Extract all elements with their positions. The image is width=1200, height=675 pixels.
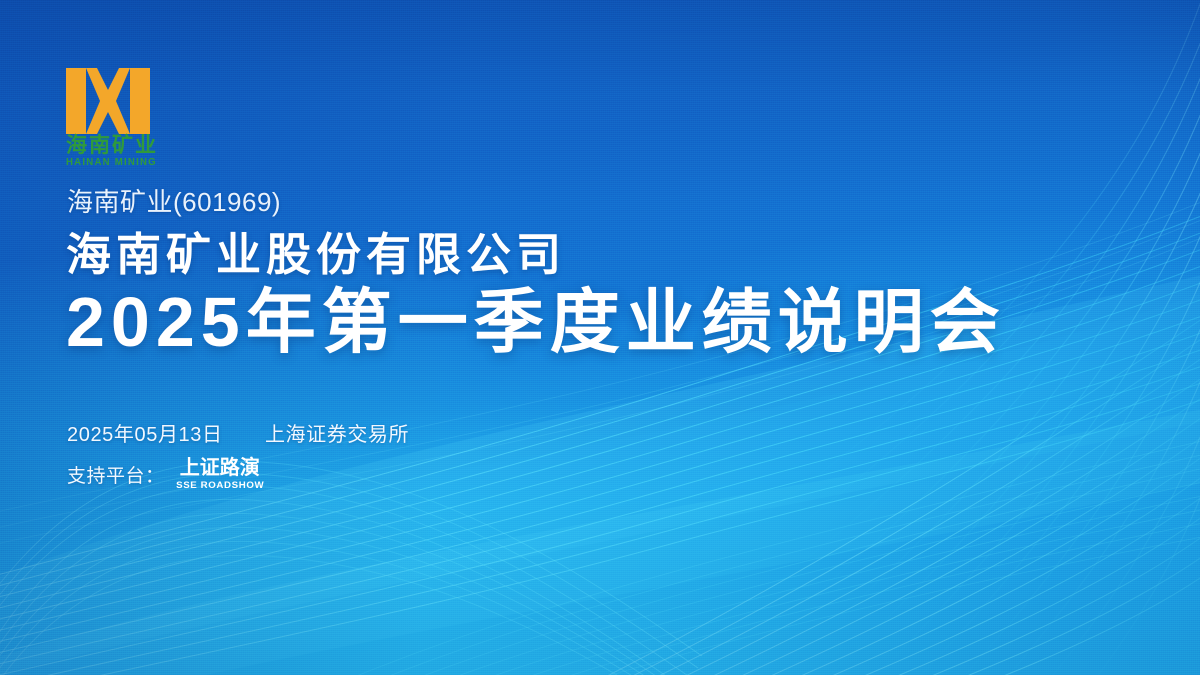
logo-name-cn: 海南矿业 xyxy=(66,135,161,157)
platform-row: 支持平台： 上证路演 SSE ROADSHOW xyxy=(67,458,263,491)
company-logo: 海南矿业 HAINAN MINING xyxy=(66,68,161,169)
event-meta: 2025年05月13日 上海证券交易所 xyxy=(67,418,409,447)
sse-logo-name-cn: 上证路演 xyxy=(180,458,260,478)
page-title: 2025年第一季度业绩说明会 xyxy=(66,283,1006,361)
stock-ticker-line: 海南矿业(601969) xyxy=(67,182,281,219)
presentation-poster: 海南矿业 HAINAN MINING 海南矿业(601969) 海南矿业股份有限… xyxy=(0,0,1200,675)
m-monogram-icon xyxy=(66,68,150,134)
event-venue: 上海证券交易所 xyxy=(265,424,409,446)
sse-roadshow-logo: 上证路演 SSE ROADSHOW xyxy=(177,458,263,491)
platform-label: 支持平台： xyxy=(67,461,165,488)
company-name: 海南矿业股份有限公司 xyxy=(66,228,566,281)
sse-logo-name-en: SSE ROADSHOW xyxy=(176,481,264,491)
event-date: 2025年05月13日 xyxy=(67,424,223,446)
poster-content: 海南矿业 HAINAN MINING 海南矿业(601969) 海南矿业股份有限… xyxy=(0,0,1200,675)
logo-name-en: HAINAN MINING xyxy=(66,157,157,169)
